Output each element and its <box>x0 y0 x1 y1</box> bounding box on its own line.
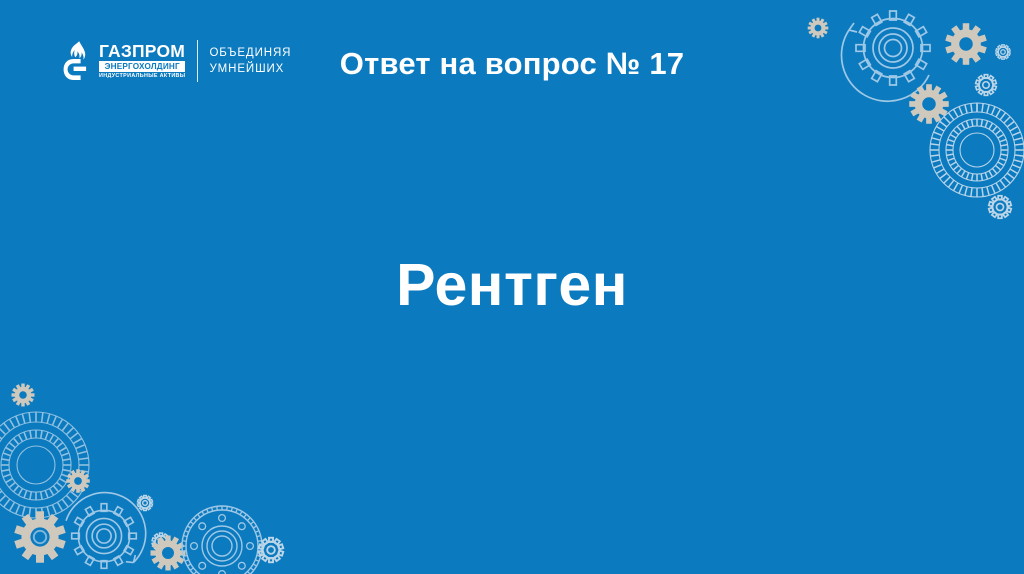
gear-small-solid-3 <box>66 469 90 493</box>
gear-tiny-outline-5 <box>259 538 284 562</box>
gear-outline-bolted-bottom <box>182 506 262 574</box>
gear-small-solid-1 <box>808 18 829 39</box>
gear-medium-solid-3 <box>14 511 65 562</box>
gear-tiny-outline-4 <box>152 533 170 551</box>
gear-starburst-bottom-left <box>0 412 89 518</box>
gear-tiny-outline-3 <box>989 196 1012 218</box>
presentation-slide: ГАЗПРОМ ЭНЕРГОХОЛДИНГ ИНДУСТРИАЛЬНЫЕ АКТ… <box>0 0 1024 574</box>
gear-medium-solid-2 <box>909 84 949 124</box>
gear-outline-arrow-bottom <box>66 493 146 569</box>
gear-small-solid-2 <box>12 384 35 407</box>
answer-text: Рентген <box>0 248 1024 322</box>
gear-small-solid-4 <box>151 536 186 571</box>
gear-tiny-outline-6 <box>137 496 152 511</box>
gear-starburst-top-right <box>930 103 1024 197</box>
page-title: Ответ на вопрос № 17 <box>0 44 1024 84</box>
